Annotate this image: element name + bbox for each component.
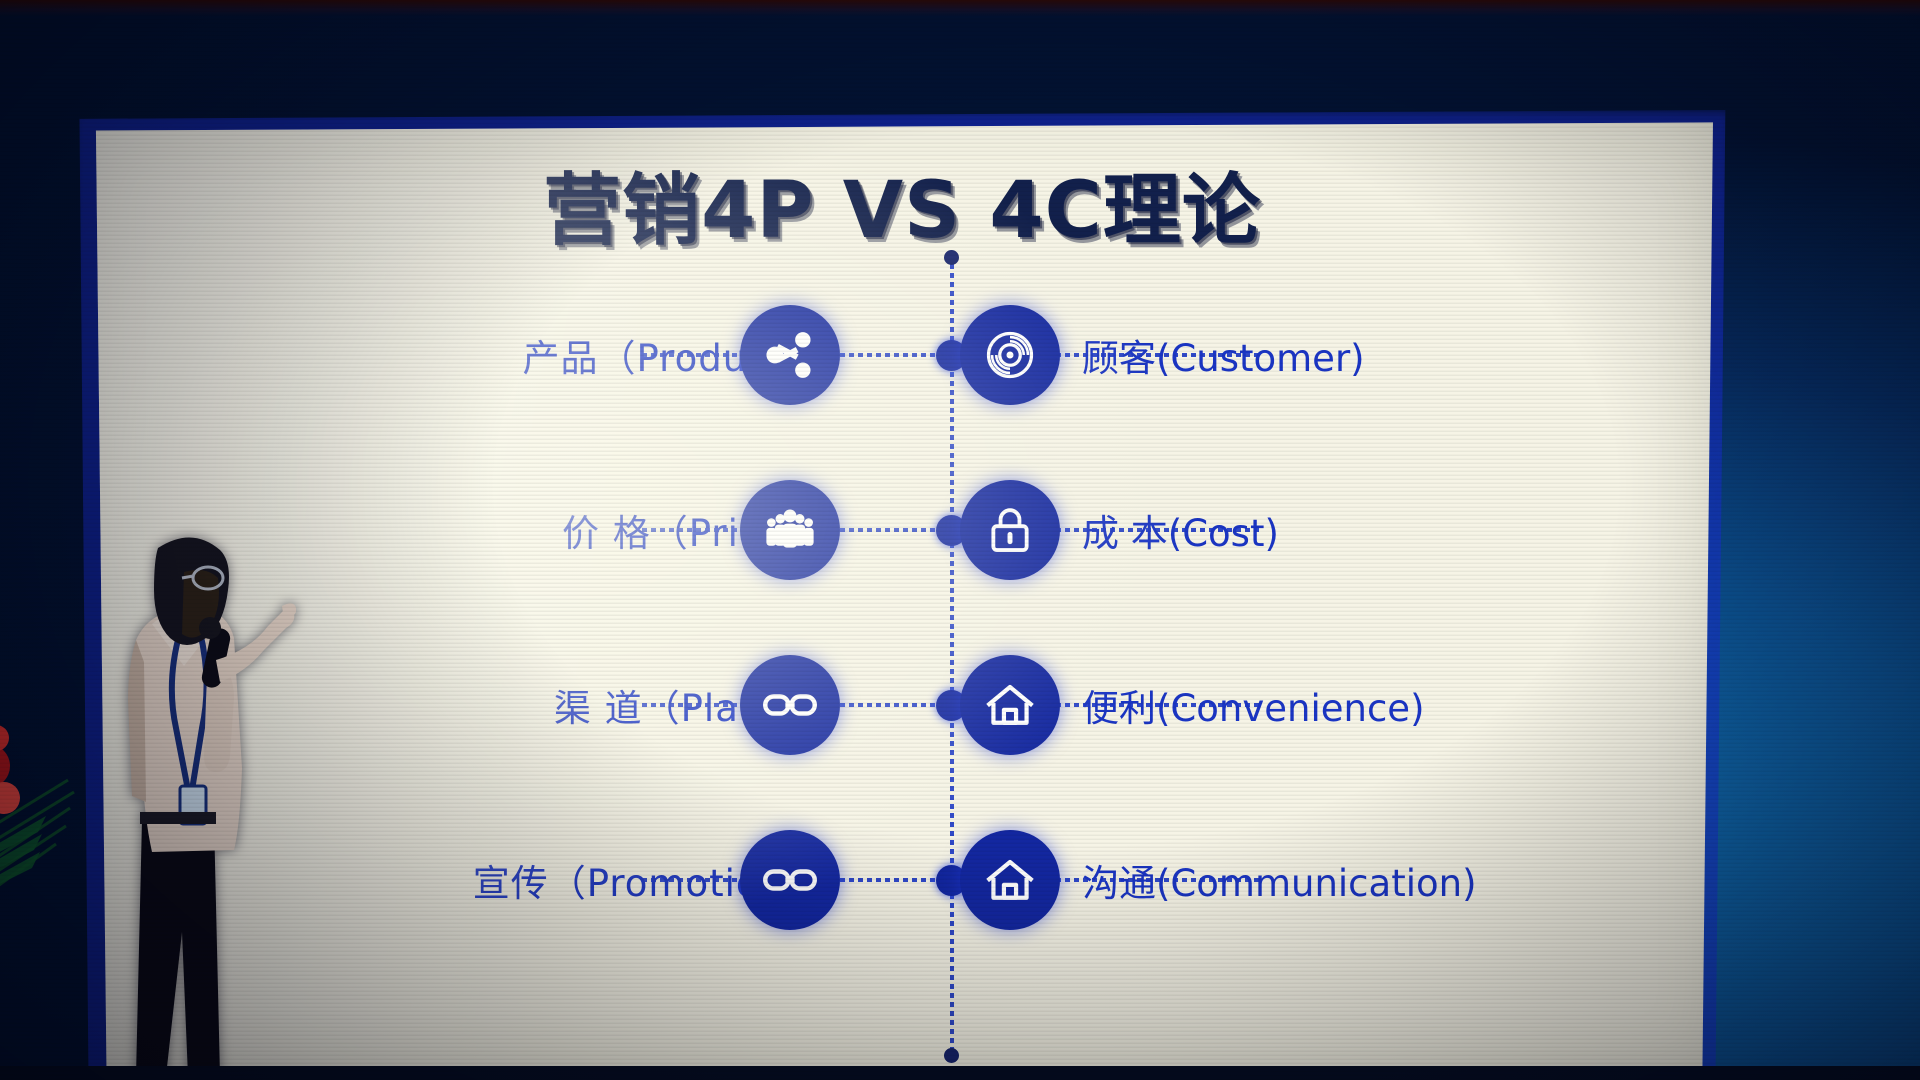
photo-vignette [0,0,1920,1080]
photo-scene: 营销4P VS 4C理论 产品（Product） [0,0,1920,1080]
